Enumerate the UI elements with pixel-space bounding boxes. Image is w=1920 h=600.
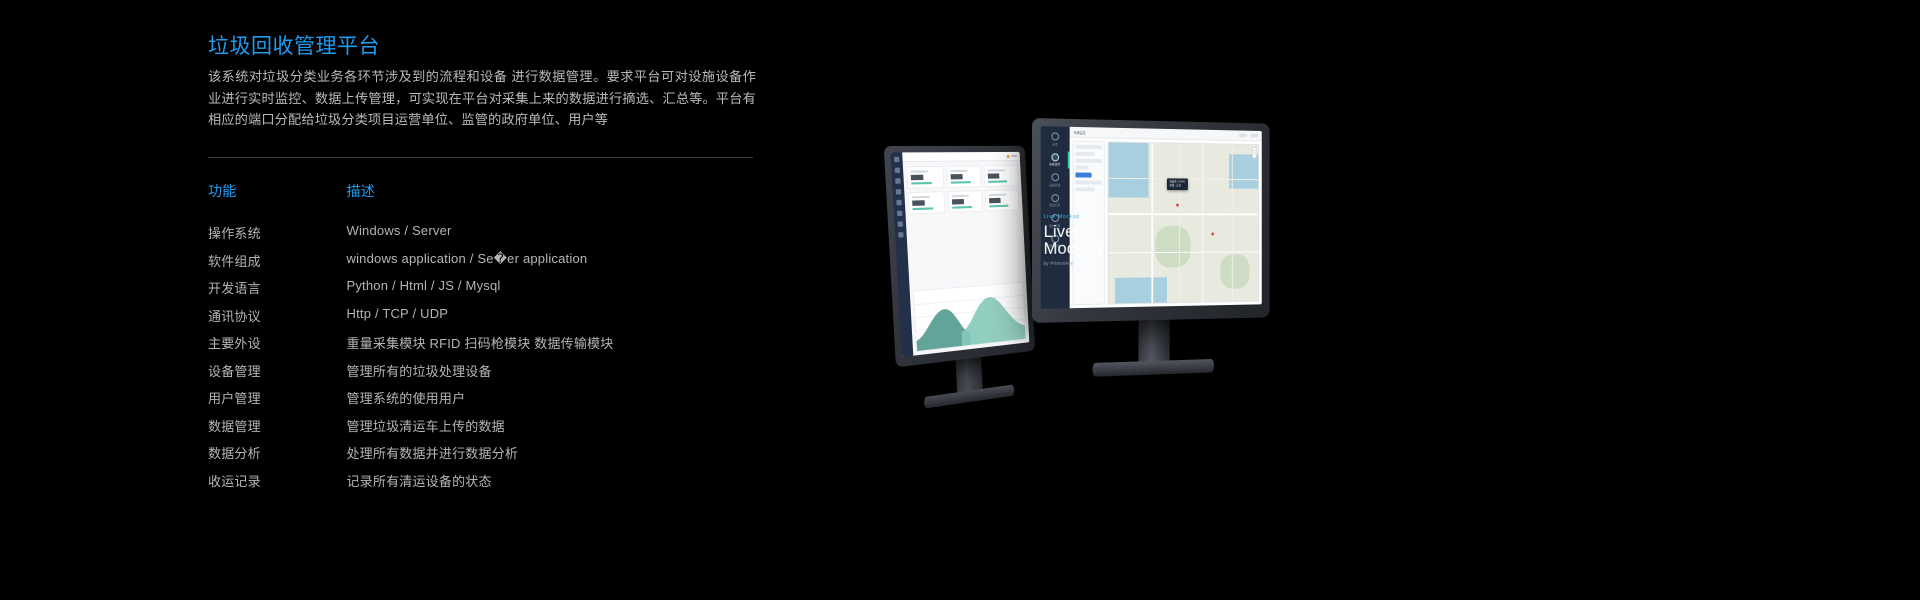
- section-divider: [208, 157, 753, 158]
- kpi-value: [952, 199, 964, 205]
- sidebar-icon: [898, 232, 904, 238]
- monitor-screen: 首页 车辆监控 设备管理 收运记录 用户管理: [1041, 126, 1262, 309]
- kpi-value: [988, 173, 1000, 178]
- sidebar-item-user-management[interactable]: 用户管理: [1041, 214, 1070, 227]
- kpi-sparkline: [951, 181, 971, 184]
- map-zoom-control[interactable]: + −: [1252, 147, 1256, 158]
- cell-description: Windows / Server: [346, 223, 768, 251]
- sidebar-icon: [895, 168, 901, 173]
- sidebar-item-label: 数据分析: [1050, 244, 1061, 248]
- filter-field[interactable]: [1075, 152, 1094, 156]
- area-chart: [913, 282, 1027, 353]
- map-marker[interactable]: [1211, 232, 1215, 236]
- kpi-sparkline: [913, 207, 934, 210]
- avatar[interactable]: [1011, 155, 1017, 157]
- kpi-label: [910, 170, 928, 172]
- table-row: 操作系统 Windows / Server: [208, 223, 768, 251]
- breadcrumb: 车辆监控: [1073, 129, 1085, 134]
- kpi-label: [912, 196, 930, 199]
- cell-feature: 操作系统: [208, 223, 346, 251]
- sidebar-item-label: 设备管理: [1050, 183, 1061, 187]
- filter-apply-button[interactable]: [1075, 172, 1091, 177]
- dashboard-main: [902, 152, 1029, 356]
- column-header-feature: 功能: [208, 181, 346, 223]
- page-title: 垃圾回收管理平台: [208, 30, 380, 60]
- table-row: 用户管理 管理系统的使用用户: [208, 388, 768, 416]
- filter-field[interactable]: [1075, 180, 1102, 184]
- kpi-card: [907, 191, 945, 214]
- monitor-screen: [890, 152, 1029, 357]
- cell-feature: 通讯协议: [208, 306, 346, 334]
- content-column: 垃圾回收管理平台 该系统对垃圾分类业务各环节涉及到的流程和设备 进行数据管理。要…: [208, 0, 808, 600]
- filter-field[interactable]: [1075, 187, 1094, 191]
- map-popup: 清运车 A-1042 在线 · 正常: [1167, 178, 1188, 190]
- platform-sidebar: 首页 车辆监控 设备管理 收运记录 用户管理: [1041, 126, 1070, 309]
- header-action-button[interactable]: [1250, 134, 1258, 138]
- cell-description: 管理系统的使用用户: [346, 388, 768, 416]
- kpi-value: [912, 200, 925, 206]
- header-action-button[interactable]: [1239, 133, 1247, 137]
- map-road: [1152, 143, 1153, 302]
- map-popup-status: 在线 · 正常: [1169, 184, 1184, 188]
- platform-body: 清运车 A-1042 在线 · 正常 + −: [1070, 138, 1262, 309]
- monitor-mockups: 首页 车辆监控 设备管理 收运记录 用户管理: [860, 0, 1920, 600]
- cell-feature: 数据管理: [208, 416, 346, 444]
- kpi-card: [946, 165, 982, 187]
- cell-feature: 软件组成: [208, 251, 346, 279]
- filter-panel: [1073, 141, 1105, 305]
- kpi-sparkline: [990, 205, 1009, 208]
- cell-feature: 主要外设: [208, 333, 346, 361]
- map-green-area: [1220, 254, 1249, 289]
- area-chart-svg: [914, 283, 1025, 351]
- monitor-stand-base: [1093, 359, 1214, 377]
- map-road: [1203, 144, 1204, 302]
- sidebar-item-data-analysis[interactable]: 数据分析: [1041, 234, 1070, 248]
- header-spacer: [1089, 132, 1235, 135]
- kpi-sparkline: [988, 180, 1007, 182]
- table-row: 数据管理 管理垃圾清运车上传的数据: [208, 416, 768, 444]
- table-row: 通讯协议 Http / TCP / UDP: [208, 306, 768, 334]
- sidebar-item-vehicle-monitor[interactable]: 车辆监控: [1041, 153, 1070, 167]
- map-view[interactable]: 清运车 A-1042 在线 · 正常 + −: [1108, 141, 1259, 304]
- kpi-label: [989, 194, 1005, 197]
- sidebar-icon: [896, 200, 902, 206]
- monitor-back-left: [884, 146, 1036, 368]
- zoom-out-button[interactable]: −: [1253, 153, 1256, 158]
- kpi-grid: [903, 161, 1023, 219]
- monitor-stand-neck: [1138, 318, 1169, 364]
- sidebar-icon: [895, 178, 901, 183]
- cell-feature: 开发语言: [208, 278, 346, 306]
- sidebar-item-label: 车辆监控: [1050, 162, 1061, 166]
- cell-feature: 数据分析: [208, 443, 346, 471]
- sidebar-icon: [896, 189, 902, 195]
- map-road-minor: [1232, 145, 1233, 301]
- notification-icon[interactable]: [1007, 154, 1010, 157]
- kpi-label: [988, 169, 1004, 171]
- kpi-card: [947, 190, 983, 213]
- kpi-card: [985, 189, 1020, 211]
- table-row: 设备管理 管理所有的垃圾处理设备: [208, 361, 768, 389]
- cell-description: 记录所有清运设备的状态: [346, 471, 768, 499]
- home-icon: [1051, 132, 1059, 140]
- kpi-value: [911, 175, 924, 181]
- sidebar-item-device-management[interactable]: 设备管理: [1041, 173, 1070, 187]
- kpi-card: [906, 166, 944, 189]
- sidebar-icon: [897, 221, 903, 227]
- map-water: [1115, 277, 1167, 303]
- map-green-area: [1155, 226, 1191, 267]
- kpi-value: [989, 198, 1001, 203]
- kpi-label: [950, 170, 967, 172]
- cell-description: 管理垃圾清运车上传的数据: [346, 416, 768, 444]
- table-header-row: 功能 描述: [208, 181, 768, 223]
- spec-table: 功能 描述 操作系统 Windows / Server 软件组成 windows…: [208, 181, 768, 498]
- user-icon: [1051, 214, 1059, 222]
- sidebar-item-label: 收运记录: [1050, 203, 1061, 207]
- chart-icon: [1051, 234, 1059, 242]
- platform-main: 车辆监控: [1070, 127, 1262, 308]
- cell-description: Http / TCP / UDP: [346, 306, 768, 334]
- cell-description: Python / Html / JS / Mysql: [346, 278, 768, 306]
- kpi-sparkline: [952, 206, 972, 209]
- cell-description: 管理所有的垃圾处理设备: [346, 361, 768, 389]
- cell-description: windows application / Se�er application: [346, 251, 768, 279]
- cell-description: 重量采集模块 RFID 扫码枪模块 数据传输模块: [346, 333, 768, 361]
- filter-field[interactable]: [1075, 159, 1102, 163]
- table-row: 开发语言 Python / Html / JS / Mysql: [208, 278, 768, 306]
- kpi-value: [950, 174, 962, 179]
- map-water: [1109, 142, 1149, 197]
- intro-paragraph: 该系统对垃圾分类业务各环节涉及到的流程和设备 进行数据管理。要求平台可对设施设备…: [208, 66, 756, 131]
- table-row: 软件组成 windows application / Se�er applica…: [208, 251, 768, 279]
- monitor-front-right: 首页 车辆监控 设备管理 收运记录 用户管理: [1032, 118, 1270, 323]
- kpi-card: [984, 165, 1019, 187]
- clock-icon: [1051, 194, 1059, 202]
- cell-feature: 收运记录: [208, 471, 346, 499]
- cell-description: 处理所有数据并进行数据分析: [346, 443, 768, 471]
- filter-field[interactable]: [1075, 166, 1088, 170]
- table-row: 数据分析 处理所有数据并进行数据分析: [208, 443, 768, 471]
- gear-icon: [1051, 173, 1059, 181]
- dashboard-ui: [890, 152, 1029, 357]
- sidebar-icon: [894, 157, 900, 162]
- map-road: [1109, 213, 1259, 215]
- sidebar-item-label: 首页: [1052, 142, 1058, 146]
- kpi-label: [951, 195, 968, 198]
- sidebar-icon: [897, 211, 903, 217]
- sidebar-item-label: 用户管理: [1050, 223, 1061, 227]
- table-row: 收运记录 记录所有清运设备的状态: [208, 471, 768, 499]
- map-water: [1229, 154, 1258, 189]
- table-row: 主要外设 重量采集模块 RFID 扫码枪模块 数据传输模块: [208, 333, 768, 361]
- kpi-sparkline: [911, 182, 932, 185]
- sidebar-item-home[interactable]: 首页: [1041, 132, 1070, 146]
- map-road-minor: [1179, 144, 1180, 302]
- sidebar-item-collection-records[interactable]: 收运记录: [1041, 194, 1070, 208]
- filter-field[interactable]: [1075, 145, 1102, 149]
- truck-icon: [1051, 153, 1059, 161]
- column-header-description: 描述: [346, 181, 768, 223]
- cell-feature: 设备管理: [208, 361, 346, 389]
- cell-feature: 用户管理: [208, 388, 346, 416]
